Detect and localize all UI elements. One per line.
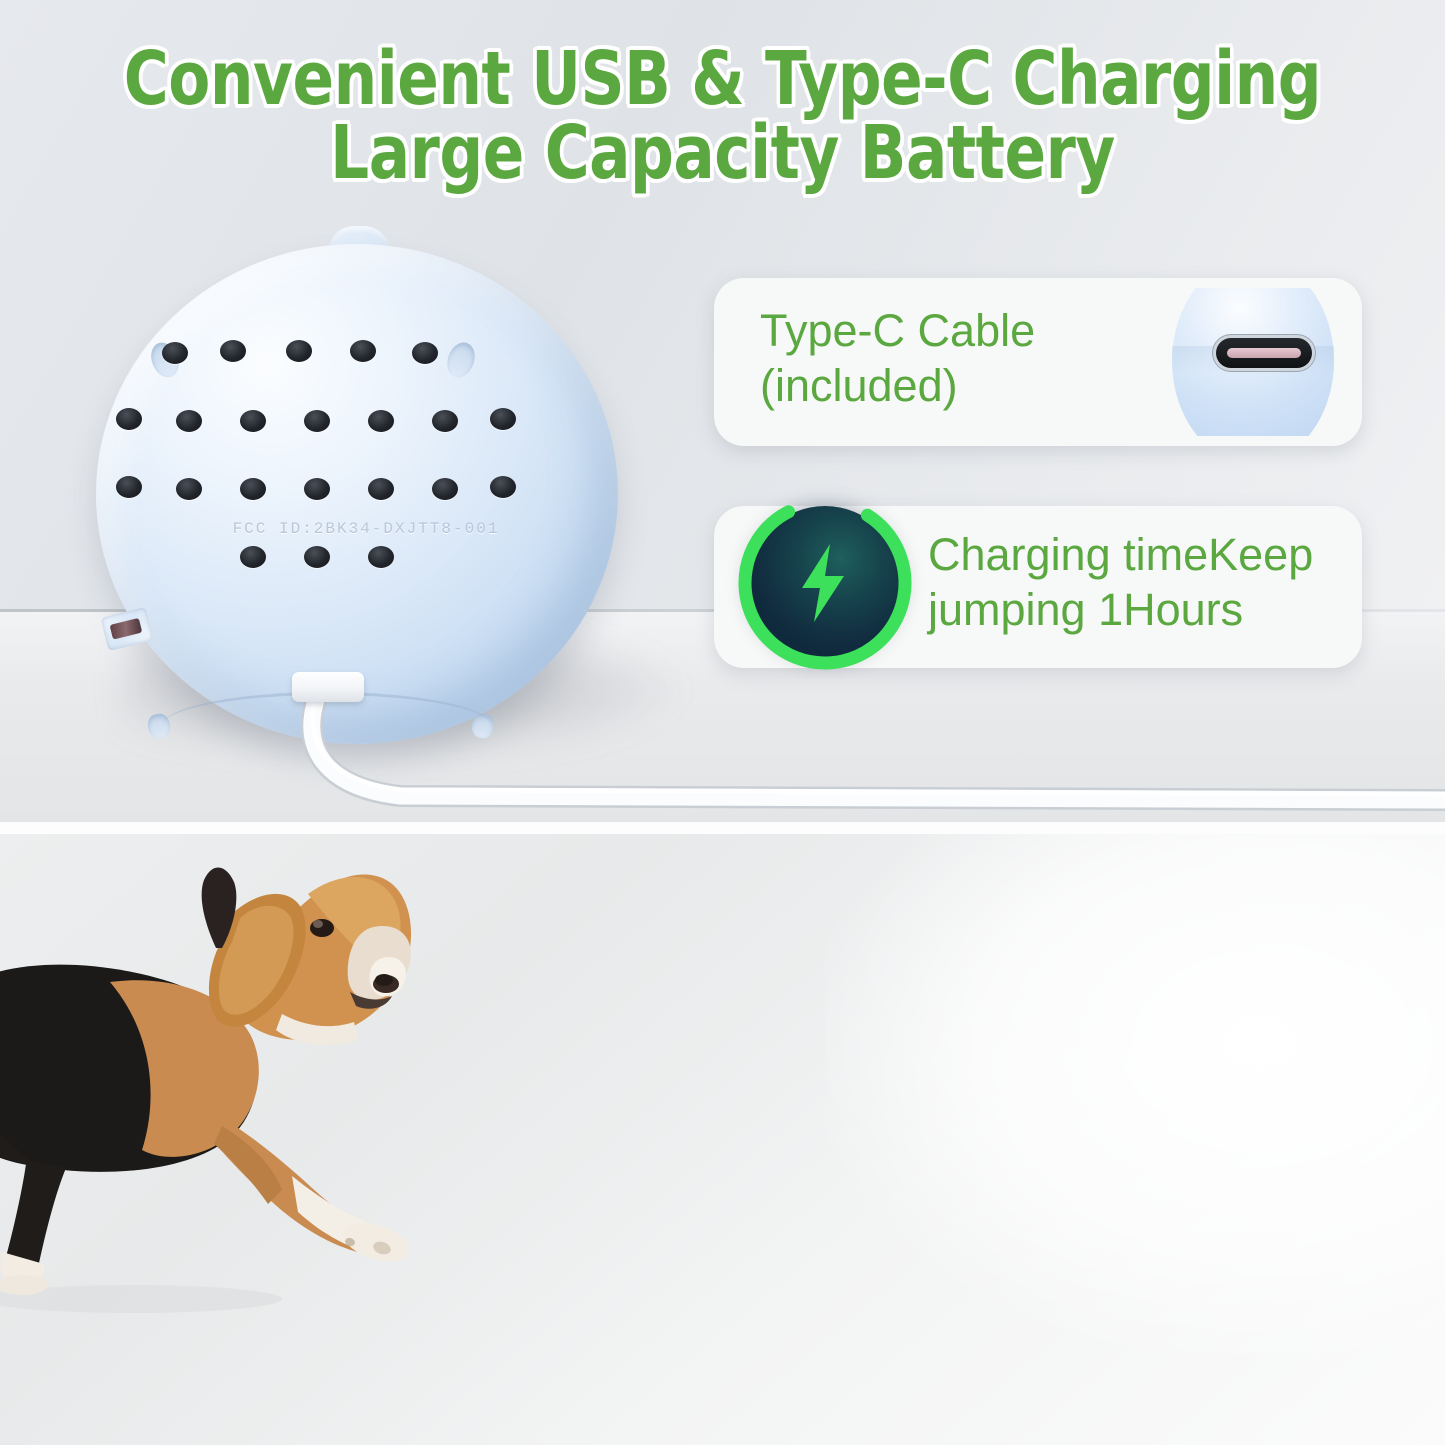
- ball-hole: [368, 546, 394, 568]
- infographic-root: Convenient USB & Type-C Charging Large C…: [0, 0, 1445, 1445]
- card-charging-text: Charging timeKeep jumping 1Hours: [928, 528, 1348, 638]
- ball-hole: [176, 410, 202, 432]
- card-type-c-line-2: (included): [760, 359, 1160, 414]
- usb-c-port-inset: [1164, 288, 1344, 436]
- ball-hole: [432, 410, 458, 432]
- panel-divider: [0, 822, 1445, 834]
- ball-hole: [304, 546, 330, 568]
- ball-hole: [116, 408, 142, 430]
- ball-side-port: [101, 607, 154, 651]
- top-panel: Convenient USB & Type-C Charging Large C…: [0, 0, 1445, 822]
- card-type-c-line-1: Type-C Cable: [760, 304, 1160, 359]
- ball-hole: [432, 478, 458, 500]
- bottom-light-gradient: [825, 834, 1445, 1354]
- card-type-c-cable: Type-C Cable (included): [714, 278, 1362, 446]
- ball-hole: [350, 340, 376, 362]
- usb-c-port-icon: [1216, 338, 1312, 368]
- lightning-bolt-icon: [794, 542, 852, 624]
- fcc-id-text: FCC ID:2BK34-DXJTT8-001: [206, 520, 526, 538]
- card-charging-line-2: jumping 1Hours: [928, 583, 1348, 638]
- bottom-panel: Yinleoit -JBC 503040PL 3.7V +600mAh 2.22…: [0, 834, 1445, 1445]
- beagle-dog-photo: [0, 844, 452, 1314]
- ball-vent-notch: [443, 339, 480, 382]
- ball-hole: [286, 340, 312, 362]
- ball-hole: [368, 410, 394, 432]
- ball-hole: [490, 476, 516, 498]
- usb-c-port-oval-photo: [1172, 288, 1334, 436]
- ball-body: FCC ID:2BK34-DXJTT8-001: [96, 244, 618, 744]
- ball-hole: [176, 478, 202, 500]
- charging-bolt-ring-icon: [732, 494, 918, 676]
- card-charging-line-1: Charging timeKeep: [928, 528, 1348, 583]
- ball-hole: [304, 478, 330, 500]
- card-charging-time: Charging timeKeep jumping 1Hours: [714, 506, 1362, 668]
- page-title: Convenient USB & Type-C Charging Large C…: [58, 42, 1387, 190]
- ball-hole: [240, 546, 266, 568]
- ball-hole: [490, 408, 516, 430]
- card-type-c-text: Type-C Cable (included): [760, 304, 1160, 414]
- ball-hole: [240, 410, 266, 432]
- ball-hole: [368, 478, 394, 500]
- title-line-2: Large Capacity Battery: [58, 116, 1387, 190]
- ball-hole: [304, 410, 330, 432]
- ball-hole: [116, 476, 142, 498]
- product-ball-photo: FCC ID:2BK34-DXJTT8-001: [84, 214, 684, 754]
- ball-hole: [240, 478, 266, 500]
- ball-seam: [162, 692, 492, 781]
- usb-cable-plug: [292, 672, 364, 702]
- ball-hole: [162, 342, 188, 364]
- ball-hole: [220, 340, 246, 362]
- ball-hole: [412, 342, 438, 364]
